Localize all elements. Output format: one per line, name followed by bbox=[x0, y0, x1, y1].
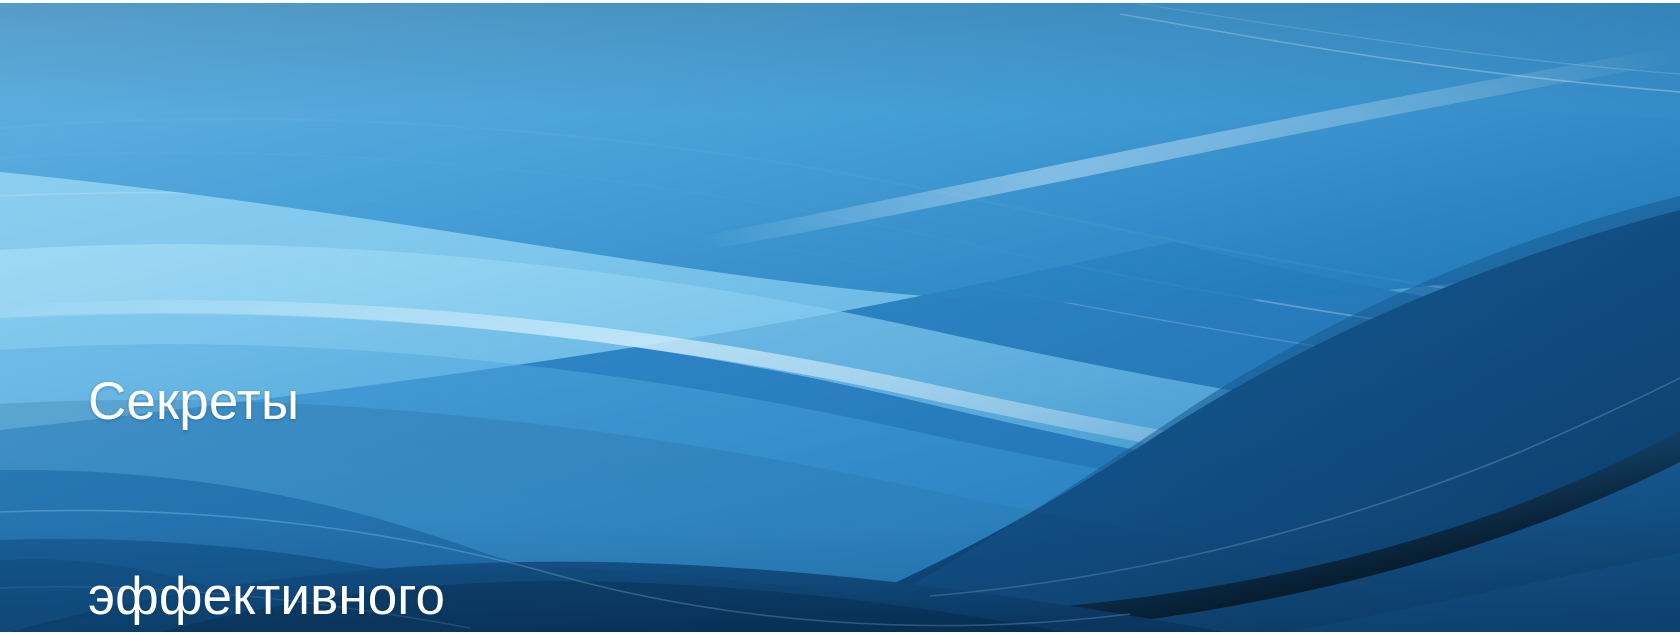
top-edge-strip bbox=[0, 0, 1680, 3]
headline-line-1: Секреты bbox=[88, 369, 615, 434]
banner-headline: Секреты эффективного онбординга для удал… bbox=[88, 239, 615, 635]
headline-line-2: эффективного bbox=[88, 564, 615, 629]
hero-banner: Секреты эффективного онбординга для удал… bbox=[0, 0, 1680, 635]
